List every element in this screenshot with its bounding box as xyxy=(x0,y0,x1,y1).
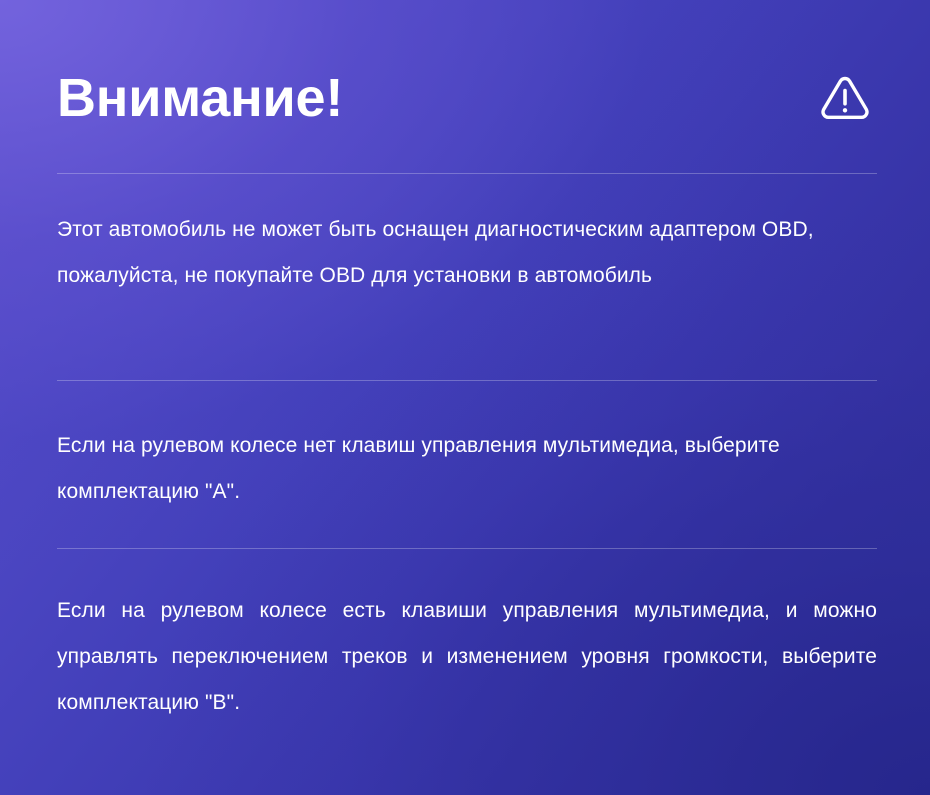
warning-triangle-icon xyxy=(817,70,873,126)
notice-section-trim-b: Если на рулевом колесе есть клавиши упра… xyxy=(57,588,877,726)
notice-text: Если на рулевом колесе есть клавиши упра… xyxy=(57,588,877,726)
content-container: Внимание! Этот автомобиль не может быть … xyxy=(57,0,877,795)
notice-header: Внимание! xyxy=(57,52,877,144)
notice-text: Если на рулевом колесе нет клавиш управл… xyxy=(57,423,877,515)
page-title: Внимание! xyxy=(57,70,343,127)
divider-top xyxy=(57,173,877,174)
notice-section-trim-a: Если на рулевом колесе нет клавиш управл… xyxy=(57,423,877,515)
notice-section-obd-warning: Этот автомобиль не может быть оснащен ди… xyxy=(57,207,877,299)
divider-middle xyxy=(57,380,877,381)
divider-bottom xyxy=(57,548,877,549)
warning-notice-panel: Внимание! Этот автомобиль не может быть … xyxy=(0,0,930,795)
notice-text: Этот автомобиль не может быть оснащен ди… xyxy=(57,207,877,299)
